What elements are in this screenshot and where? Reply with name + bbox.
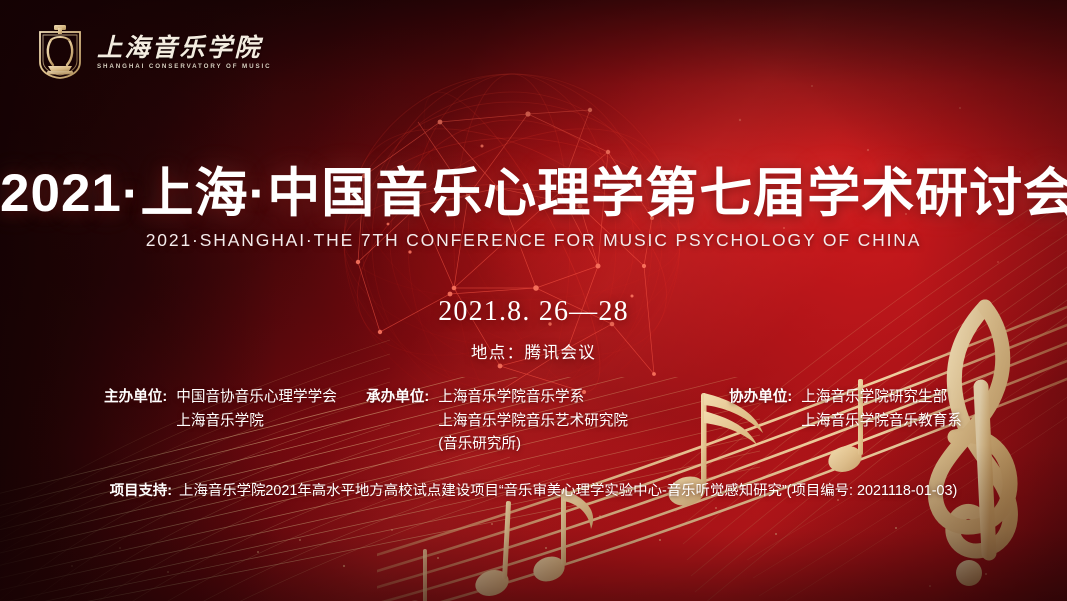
project-support: 项目支持:上海音乐学院2021年高水平地方高校试点建设项目“音乐审美心理学实验中… (0, 479, 1067, 500)
page-title: 2021·上海·中国音乐心理学第七届学术研讨会 (0, 164, 1067, 223)
organizer-undertaker-line: (音乐研究所) (438, 433, 628, 457)
organizer-coorganizer-line: 上海音乐学院音乐教育系 (801, 410, 962, 434)
organizer-host-label: 主办单位: (104, 386, 167, 410)
conference-date: 2021.8. 26—28 (0, 296, 1067, 328)
project-support-text: 上海音乐学院2021年高水平地方高校试点建设项目“音乐审美心理学实验中心-音乐听… (172, 483, 957, 499)
organizer-undertaker-line: 上海音乐学院音乐艺术研究院 (438, 410, 628, 434)
conference-poster: 上海音乐学院 SHANGHAI CONSERVATORY OF MUSIC 20… (0, 0, 1067, 601)
logo-name-en: SHANGHAI CONSERVATORY OF MUSIC (97, 64, 271, 70)
organizer-host: 主办单位: 中国音协音乐心理学学会 上海音乐学院 (26, 386, 356, 433)
organizer-coorganizer-label: 协办单位: (729, 386, 792, 410)
page-subtitle-en: 2021·SHANGHAI·THE 7TH CONFERENCE FOR MUS… (0, 230, 1067, 251)
organizer-host-line: 上海音乐学院 (176, 410, 337, 434)
lyre-emblem-icon (34, 22, 86, 80)
organizer-coorganizer-line: 上海音乐学院研究生部 (801, 386, 962, 410)
organizers-section: 主办单位: 中国音协音乐心理学学会 上海音乐学院 承办单位: 上海音乐学院音乐学… (0, 386, 1067, 457)
logo-name-cn: 上海音乐学院 (97, 36, 271, 61)
organizer-host-line: 中国音协音乐心理学学会 (176, 386, 337, 410)
organizer-coorganizer: 协办单位: 上海音乐学院研究生部 上海音乐学院音乐教育系 (711, 386, 1041, 433)
conference-venue: 地点：腾讯会议 (0, 339, 1067, 363)
organizer-undertaker-line: 上海音乐学院音乐学系 (438, 386, 628, 410)
organizer-undertaker-label: 承办单位: (366, 386, 429, 410)
organizer-undertaker: 承办单位: 上海音乐学院音乐学系 上海音乐学院音乐艺术研究院 (音乐研究所) (356, 386, 711, 457)
project-support-label: 项目支持: (110, 483, 172, 499)
shanghai-conservatory-logo: 上海音乐学院 SHANGHAI CONSERVATORY OF MUSIC (34, 22, 271, 80)
